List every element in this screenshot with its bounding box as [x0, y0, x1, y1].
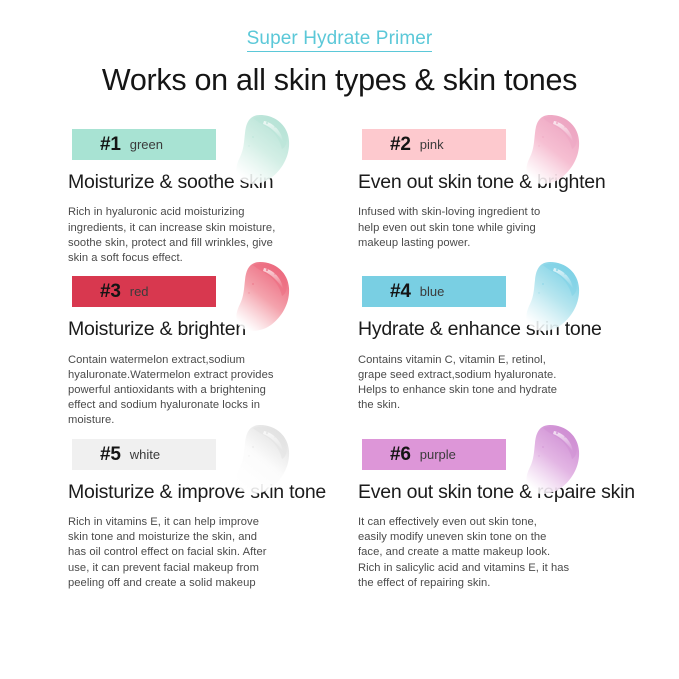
shade-card: #1 green Moisturize & soothe skin Rich i… — [68, 119, 353, 266]
banner-wrap: #5 white — [68, 429, 353, 481]
card-body: It can effectively even out skin tone, e… — [358, 515, 638, 591]
banner-wrap: #2 pink — [358, 119, 638, 171]
shade-number: #4 — [390, 282, 411, 301]
shade-card: #3 red Moisturize & brighten Contain wat… — [68, 266, 353, 428]
card-body: Contains vitamin C, vitamin E, retinol, … — [358, 353, 638, 414]
shade-number: #3 — [100, 282, 121, 301]
shade-color-name: green — [130, 138, 163, 151]
shade-number: #5 — [100, 445, 121, 464]
shade-color-name: red — [130, 285, 149, 298]
card-body: Contain watermelon extract,sodium hyalur… — [68, 353, 353, 429]
shade-card-grid: #1 green Moisturize & soothe skin Rich i… — [0, 119, 679, 591]
brand-link[interactable]: Super Hydrate Primer — [247, 28, 433, 52]
shade-color-name: purple — [420, 448, 456, 461]
card-title: Moisturize & improve skin tone — [68, 481, 353, 504]
shade-number: #1 — [100, 135, 121, 154]
card-title: Hydrate & enhance skin tone — [358, 318, 638, 341]
card-title: Moisturize & brighten — [68, 318, 353, 341]
shade-card: #6 purple Even out skin tone & repaire s… — [353, 429, 638, 591]
shade-color-name: white — [130, 448, 160, 461]
banner-wrap: #4 blue — [358, 266, 638, 318]
card-title: Even out skin tone & brighten — [358, 171, 638, 194]
card-body: Infused with skin-loving ingredient to h… — [358, 205, 638, 251]
shade-banner: #3 red — [72, 276, 216, 307]
shade-color-name: pink — [420, 138, 444, 151]
shade-banner: #5 white — [72, 439, 216, 470]
shade-card: #5 white Moisturize & improve skin tone … — [68, 429, 353, 591]
infographic-page: Super Hydrate Primer Works on all skin t… — [0, 0, 679, 679]
banner-wrap: #6 purple — [358, 429, 638, 481]
banner-wrap: #3 red — [68, 266, 353, 318]
card-title: Moisturize & soothe skin — [68, 171, 353, 194]
card-title: Even out skin tone & repaire skin — [358, 481, 638, 504]
shade-banner: #1 green — [72, 129, 216, 160]
shade-number: #6 — [390, 445, 411, 464]
card-body: Rich in vitamins E, it can help improve … — [68, 515, 353, 591]
shade-card: #2 pink Even out skin tone & brighten In… — [353, 119, 638, 266]
shade-banner: #2 pink — [362, 129, 506, 160]
page-headline: Works on all skin types & skin tones — [0, 63, 679, 97]
card-body: Rich in hyaluronic acid moisturizing ing… — [68, 205, 353, 266]
header: Super Hydrate Primer Works on all skin t… — [0, 0, 679, 97]
shade-card: #4 blue Hydrate & enhance skin tone Cont… — [353, 266, 638, 428]
shade-color-name: blue — [420, 285, 445, 298]
shade-number: #2 — [390, 135, 411, 154]
shade-banner: #4 blue — [362, 276, 506, 307]
shade-banner: #6 purple — [362, 439, 506, 470]
banner-wrap: #1 green — [68, 119, 353, 171]
